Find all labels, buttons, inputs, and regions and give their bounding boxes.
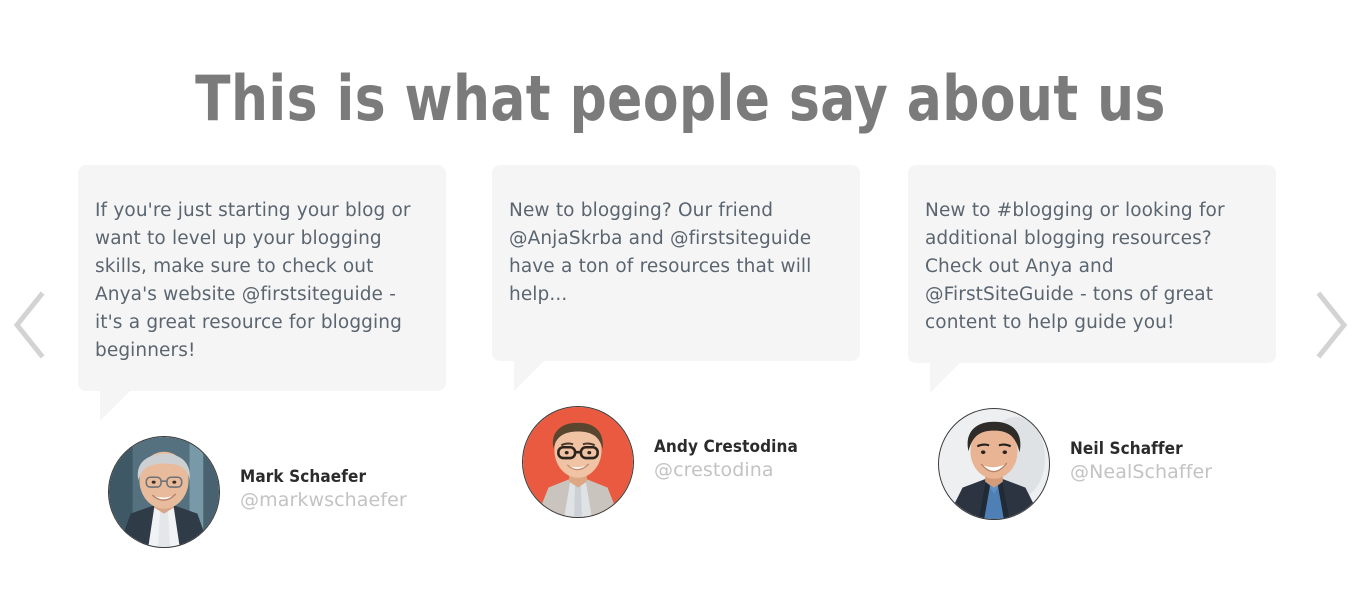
testimonial-author: Mark Schaefer @markwschaefer [108,436,446,548]
testimonial-quote: New to blogging? Our friend @AnjaSkrba a… [509,197,832,309]
testimonial-slide: If you're just starting your blog or wan… [78,165,446,548]
testimonial-bubble: If you're just starting your blog or wan… [78,165,446,391]
author-name: Mark Schaefer [240,468,407,488]
author-name: Andy Crestodina [654,438,798,458]
avatar [938,408,1050,520]
testimonial-slide: New to #blogging or looking for addition… [908,165,1276,520]
author-name: Neil Schaffer [1070,440,1212,460]
testimonial-author: Neil Schaffer @NealSchaffer [938,408,1276,520]
testimonial-quote: New to #blogging or looking for addition… [925,197,1248,337]
testimonial-slide: New to blogging? Our friend @AnjaSkrba a… [492,165,860,518]
author-handle[interactable]: @NealSchaffer [1070,462,1212,484]
bubble-tail [100,391,130,421]
testimonial-bubble: New to blogging? Our friend @AnjaSkrba a… [492,165,860,361]
bubble-tail [514,361,544,391]
testimonial-author: Andy Crestodina @crestodina [522,406,860,518]
author-meta: Neil Schaffer @NealSchaffer [1070,440,1212,488]
author-handle[interactable]: @crestodina [654,460,798,482]
author-meta: Andy Crestodina @crestodina [654,438,798,486]
testimonial-quote: If you're just starting your blog or wan… [95,197,418,365]
avatar [108,436,220,548]
testimonial-carousel-track[interactable]: If you're just starting your blog or wan… [0,0,1361,596]
bubble-tail [930,363,960,393]
testimonial-bubble: New to #blogging or looking for addition… [908,165,1276,363]
author-meta: Mark Schaefer @markwschaefer [240,468,407,516]
avatar [522,406,634,518]
author-handle[interactable]: @markwschaefer [240,490,407,512]
